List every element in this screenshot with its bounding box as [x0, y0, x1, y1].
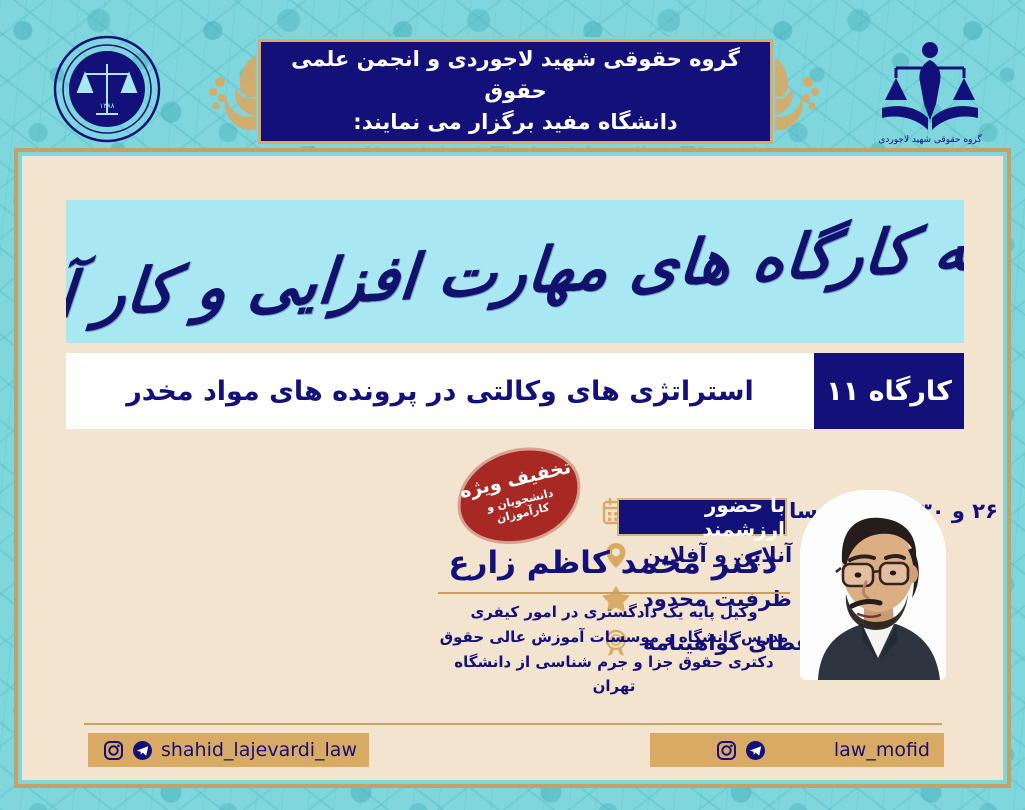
series-title-band: سلسله کارگاه های مهارت افزایی و کار آموز… — [66, 200, 964, 343]
speaker-name: دکتر محمد کاظم زارع — [438, 545, 788, 581]
instagram-icon[interactable] — [716, 740, 737, 761]
speaker-credential-3: دکتری حقوق جزا و جرم شناسی از دانشگاه ته… — [438, 650, 790, 700]
social-bar-shahid-lajevardi[interactable]: shahid_lajevardi_law — [88, 733, 369, 767]
workshop-subject: استراتژی های وکالتی در پرونده های مواد م… — [66, 353, 814, 429]
event-poster: ۱۳۸۸ — [0, 0, 1025, 810]
telegram-icon[interactable] — [745, 740, 766, 761]
attendance-badge: با حضور ارزشمند — [617, 498, 787, 536]
speaker-credential-1: وکیل پایه یک دادگستری در امور کیفری — [438, 600, 790, 625]
social-bar-law-mofid[interactable]: law_mofid — [650, 733, 944, 767]
organizer-text: گروه حقوقی شهید لاجوردی و انجمن علمی حقو… — [261, 44, 770, 139]
speaker-credential-2: مدرس دانشگاه و موسسات آموزش عالی حقوق — [438, 625, 790, 650]
mofid-scientific-association-logo: ۱۳۸۸ — [52, 34, 162, 144]
logo-right-caption: گروه حقوقی شهید لاجوردی — [878, 133, 982, 145]
speaker-divider — [438, 592, 790, 594]
footer-divider — [84, 723, 942, 725]
speaker-credentials: وکیل پایه یک دادگستری در امور کیفری مدرس… — [438, 600, 790, 699]
svg-text:۱۳۸۸: ۱۳۸۸ — [99, 102, 114, 110]
series-title: سلسله کارگاه های مهارت افزایی و کار آموز… — [66, 209, 964, 334]
organizer-banner: گروه حقوقی شهید لاجوردی و انجمن علمی حقو… — [258, 39, 773, 144]
workshop-number: کارگاه ۱۱ — [814, 353, 964, 429]
poster-header: ۱۳۸۸ — [0, 0, 1025, 150]
instagram-icon[interactable] — [103, 740, 124, 761]
social-handle-law-mofid[interactable]: law_mofid — [834, 739, 930, 761]
social-handle-shahid-lajevardi[interactable]: shahid_lajevardi_law — [161, 739, 357, 761]
workshop-row: کارگاه ۱۱ استراتژی های وکالتی در پرونده … — [66, 353, 964, 429]
shahid-lajevardi-law-group-logo: گروه حقوقی شهید لاجوردی — [872, 34, 988, 146]
telegram-icon[interactable] — [132, 740, 153, 761]
speaker-photo — [800, 490, 946, 680]
organizer-line-2: دانشگاه مفید برگزار می نمایند: — [275, 107, 756, 139]
organizer-line-1: گروه حقوقی شهید لاجوردی و انجمن علمی حقو… — [275, 44, 756, 107]
